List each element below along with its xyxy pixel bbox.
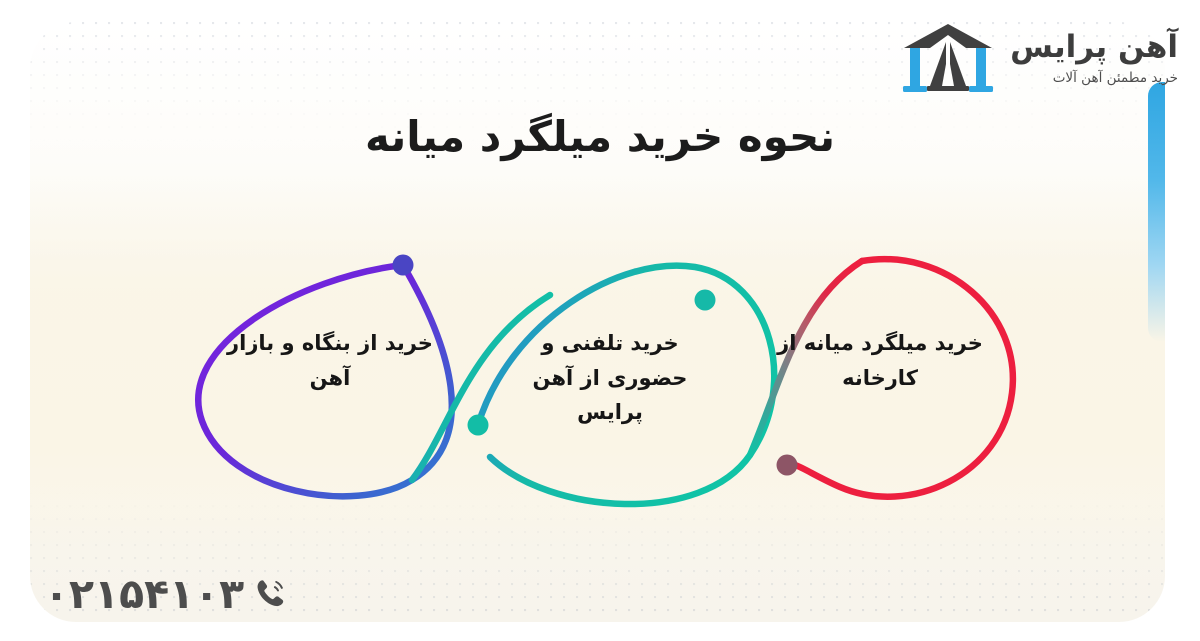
brand-logo-text: آهن پرایس خرید مطمئن آهن آلات: [1010, 32, 1178, 86]
endpoint-dot-purple: [393, 255, 414, 276]
phone-number: ۰۲۱۵۴۱۰۳: [44, 570, 244, 618]
endpoint-dot-maroon: [777, 455, 798, 476]
loop-label-1: خرید از بنگاه و بازار آهن: [225, 326, 435, 395]
ahanprice-gate-logo-icon: [900, 20, 996, 98]
brand-logo[interactable]: آهن پرایس خرید مطمئن آهن آلات: [900, 20, 1178, 98]
loop-label-3: خرید میلگرد میانه از کارخانه: [775, 326, 985, 395]
screenshot-stage: آهن پرایس خرید مطمئن آهن آلات نحوه خرید …: [0, 0, 1200, 641]
loop-label-2: خرید تلفنی و حضوری از آهن پرایس: [505, 326, 715, 430]
endpoint-dot-teal-upper: [695, 290, 716, 311]
endpoint-dot-teal-lower: [468, 415, 489, 436]
brand-name: آهن پرایس: [1010, 32, 1178, 63]
phone-ringing-icon: [253, 576, 289, 612]
page-title: نحوه خرید میلگرد میانه: [0, 112, 1200, 161]
brand-tagline: خرید مطمئن آهن آلات: [1010, 72, 1178, 86]
contact-phone[interactable]: ۰۲۱۵۴۱۰۳: [44, 570, 289, 618]
